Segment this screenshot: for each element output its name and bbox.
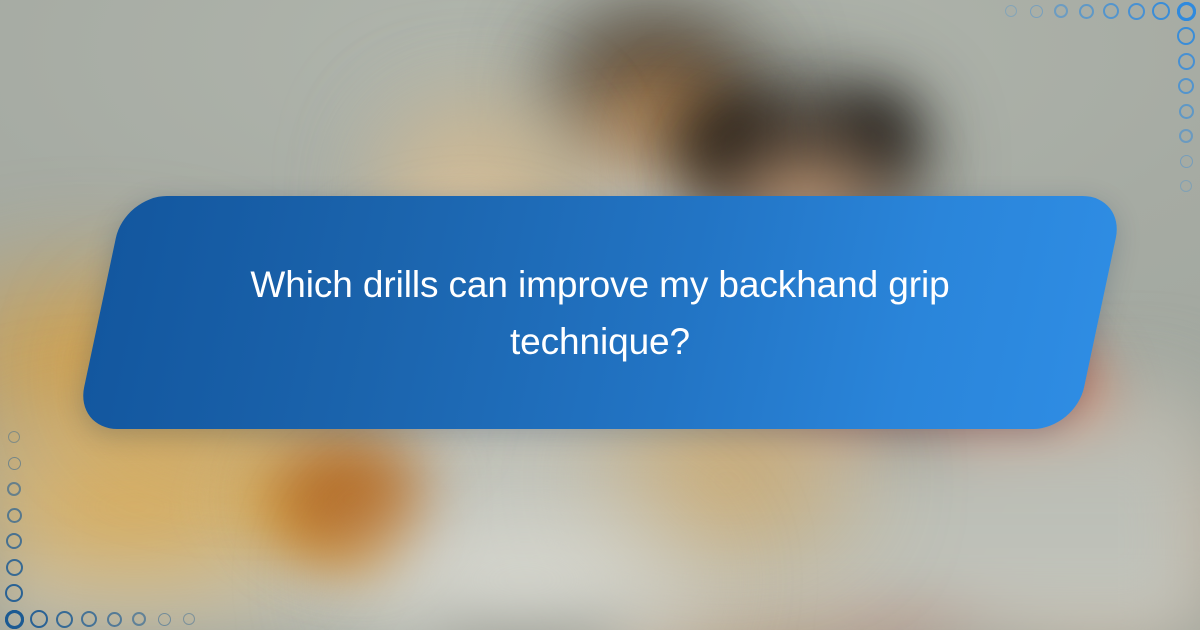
decor-circle-icon — [7, 482, 21, 496]
decor-circle-icon — [1103, 3, 1119, 19]
decor-circle-icon — [1152, 2, 1170, 20]
decor-circle-icon — [1177, 2, 1196, 21]
decor-circle-icon — [158, 613, 171, 626]
decor-circle-icon — [183, 613, 195, 625]
decor-circle-icon — [56, 611, 73, 628]
decor-circle-icon — [5, 584, 23, 602]
decor-circle-icon — [1179, 104, 1194, 119]
photo-racket-right — [612, 436, 842, 526]
decor-circle-icon — [5, 610, 24, 629]
decor-circle-icon — [8, 457, 21, 470]
decor-circle-icon — [6, 559, 23, 576]
decor-circle-icon — [81, 611, 97, 627]
decor-circle-icon — [1178, 53, 1195, 70]
decor-circle-icon — [1054, 4, 1068, 18]
question-banner: Which drills can improve my backhand gri… — [100, 196, 1100, 429]
decor-circle-icon — [1179, 129, 1193, 143]
decor-circle-icon — [8, 431, 20, 443]
decor-circle-icon — [1177, 27, 1195, 45]
decor-circle-icon — [30, 610, 48, 628]
question-card-canvas: Which drills can improve my backhand gri… — [0, 0, 1200, 630]
question-text: Which drills can improve my backhand gri… — [100, 196, 1100, 429]
decor-circle-icon — [1180, 180, 1192, 192]
decor-circle-icon — [1128, 3, 1145, 20]
decor-circle-icon — [7, 508, 22, 523]
decor-circle-icon — [132, 612, 146, 626]
decor-circle-icon — [1079, 4, 1094, 19]
decor-circle-icon — [1005, 5, 1017, 17]
decor-circle-icon — [1030, 5, 1043, 18]
decor-circle-icon — [6, 533, 22, 549]
decor-circle-icon — [1180, 155, 1193, 168]
photo-floor-paper — [360, 520, 690, 630]
decor-circle-icon — [1178, 78, 1194, 94]
decor-circle-icon — [107, 612, 122, 627]
